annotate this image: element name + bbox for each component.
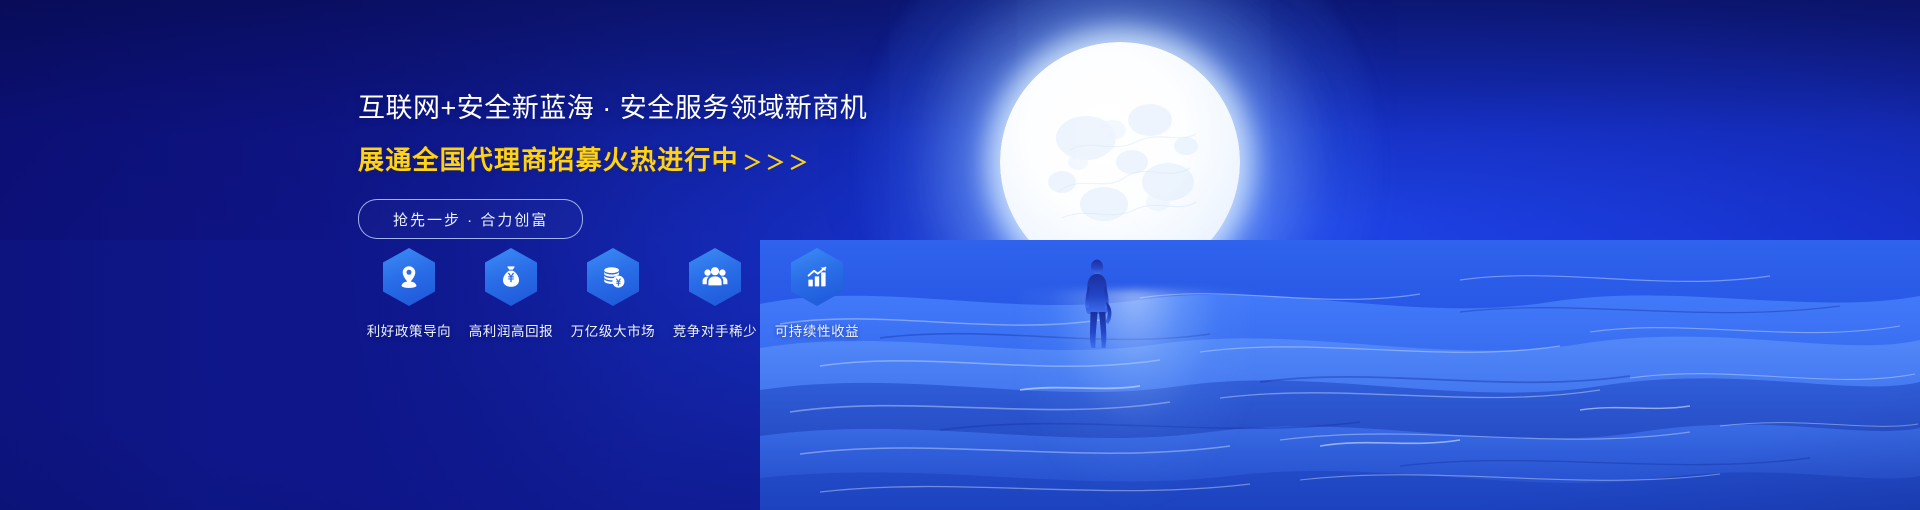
banner-headline: 互联网+安全新蓝海 · 安全服务领域新商机 bbox=[358, 92, 918, 124]
feature-hex-badge bbox=[383, 248, 435, 306]
cta-pill-button[interactable]: 抢先一步 · 合力创富 bbox=[358, 199, 583, 239]
feature-item-competition[interactable]: 竞争对手稀少 bbox=[664, 248, 766, 340]
feature-item-policy[interactable]: 利好政策导向 bbox=[358, 248, 460, 340]
feature-hex-badge bbox=[485, 248, 537, 306]
location-pin-icon bbox=[395, 263, 423, 291]
feature-item-revenue[interactable]: 可持续性收益 bbox=[766, 248, 868, 340]
feature-label: 高利润高回报 bbox=[469, 320, 554, 340]
banner-subheadline: 展通全国代理商招募火热进行中 ＞＞＞ bbox=[358, 140, 918, 177]
growth-bar-chart-icon bbox=[803, 263, 831, 291]
promo-banner: 互联网+安全新蓝海 · 安全服务领域新商机 展通全国代理商招募火热进行中 ＞＞＞… bbox=[0, 0, 1920, 510]
feature-label: 利好政策导向 bbox=[367, 320, 452, 340]
feature-hex-badge bbox=[689, 248, 741, 306]
people-group-icon bbox=[701, 263, 729, 291]
feature-list: 利好政策导向 高利润高回报 bbox=[358, 248, 868, 340]
feature-label: 竞争对手稀少 bbox=[673, 320, 758, 340]
money-bag-yuan-icon bbox=[497, 263, 525, 291]
feature-label: 万亿级大市场 bbox=[571, 320, 656, 340]
walking-man-silhouette bbox=[1078, 258, 1120, 350]
coin-stack-yuan-icon bbox=[599, 263, 627, 291]
ocean-waves bbox=[760, 240, 1920, 510]
feature-item-profit[interactable]: 高利润高回报 bbox=[460, 248, 562, 340]
feature-hex-badge bbox=[587, 248, 639, 306]
feature-hex-badge bbox=[791, 248, 843, 306]
feature-label: 可持续性收益 bbox=[775, 320, 860, 340]
chevron-right-arrows-icon: ＞＞＞ bbox=[743, 148, 812, 175]
banner-subheadline-text: 展通全国代理商招募火热进行中 bbox=[358, 140, 739, 177]
banner-content: 互联网+安全新蓝海 · 安全服务领域新商机 展通全国代理商招募火热进行中 ＞＞＞… bbox=[358, 92, 918, 239]
feature-item-market[interactable]: 万亿级大市场 bbox=[562, 248, 664, 340]
